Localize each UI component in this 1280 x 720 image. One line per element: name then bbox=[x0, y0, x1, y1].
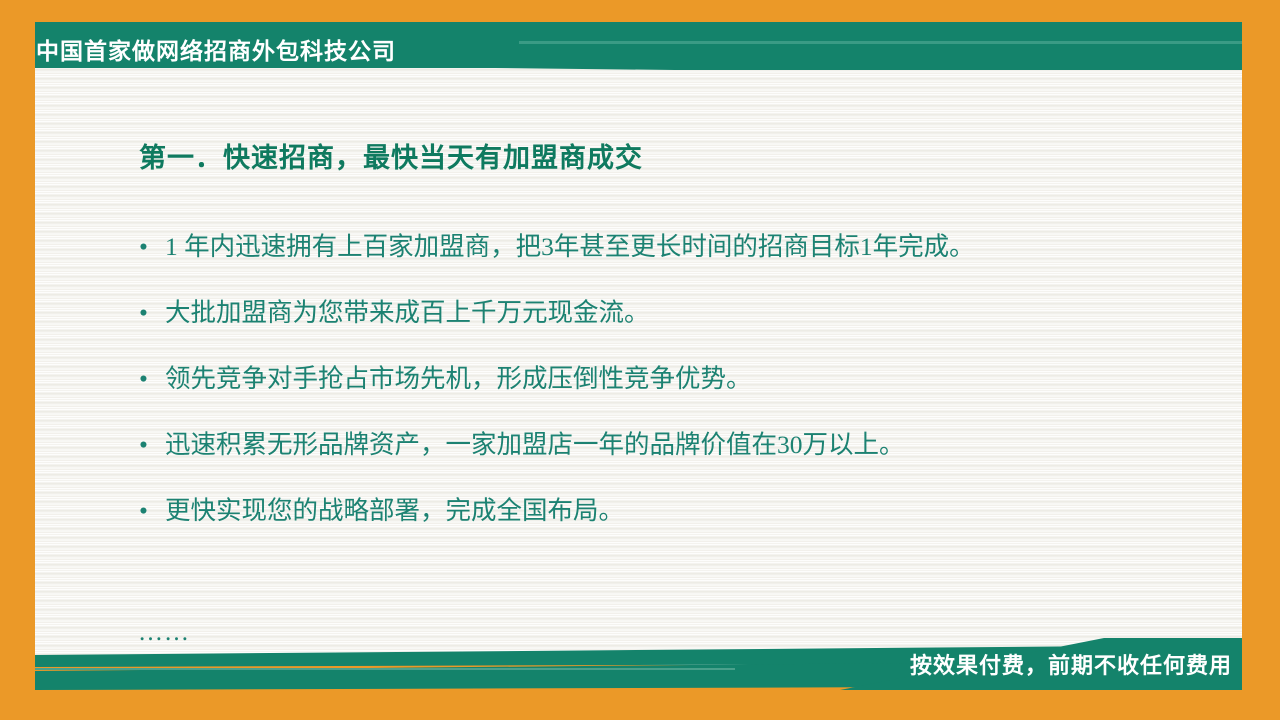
ellipsis-continuation: …… bbox=[138, 620, 190, 645]
bullet-marker-icon: • bbox=[139, 364, 165, 394]
list-item: • 领先竞争对手抢占市场先机，形成压倒性竞争优势。 bbox=[139, 364, 1209, 394]
bullet-text: 大批加盟商为您带来成百上千万元现金流。 bbox=[165, 298, 1209, 328]
bullet-text: 领先竞争对手抢占市场先机，形成压倒性竞争优势。 bbox=[165, 364, 1209, 394]
header-divider-line bbox=[519, 41, 1242, 44]
bullet-marker-icon: • bbox=[139, 496, 165, 526]
list-item: • 更快实现您的战略部署，完成全国布局。 bbox=[139, 496, 1209, 526]
list-item: • 1 年内迅速拥有上百家加盟商，把3年甚至更长时间的招商目标1年完成。 bbox=[139, 232, 1209, 262]
presentation-slide: 中国首家做网络招商外包科技公司 第一．快速招商，最快当天有加盟商成交 • 1 年… bbox=[0, 0, 1280, 720]
bullet-text: 更快实现您的战略部署，完成全国布局。 bbox=[165, 496, 1209, 526]
list-item: • 大批加盟商为您带来成百上千万元现金流。 bbox=[139, 298, 1209, 328]
slide-heading: 第一．快速招商，最快当天有加盟商成交 bbox=[139, 136, 643, 175]
company-tagline-header: 中国首家做网络招商外包科技公司 bbox=[36, 32, 396, 66]
bullet-marker-icon: • bbox=[139, 298, 165, 328]
footer-tagline: 按效果付费，前期不收任何费用 bbox=[910, 648, 1232, 680]
list-item: • 迅速积累无形品牌资产，一家加盟店一年的品牌价值在30万以上。 bbox=[139, 430, 1209, 460]
footer-divider-line bbox=[35, 668, 735, 670]
benefit-bullet-list: • 1 年内迅速拥有上百家加盟商，把3年甚至更长时间的招商目标1年完成。 • 大… bbox=[139, 232, 1209, 562]
bullet-text: 1 年内迅速拥有上百家加盟商，把3年甚至更长时间的招商目标1年完成。 bbox=[165, 232, 1209, 262]
bullet-text: 迅速积累无形品牌资产，一家加盟店一年的品牌价值在30万以上。 bbox=[165, 430, 1209, 460]
bullet-marker-icon: • bbox=[139, 232, 165, 262]
bullet-marker-icon: • bbox=[139, 430, 165, 460]
